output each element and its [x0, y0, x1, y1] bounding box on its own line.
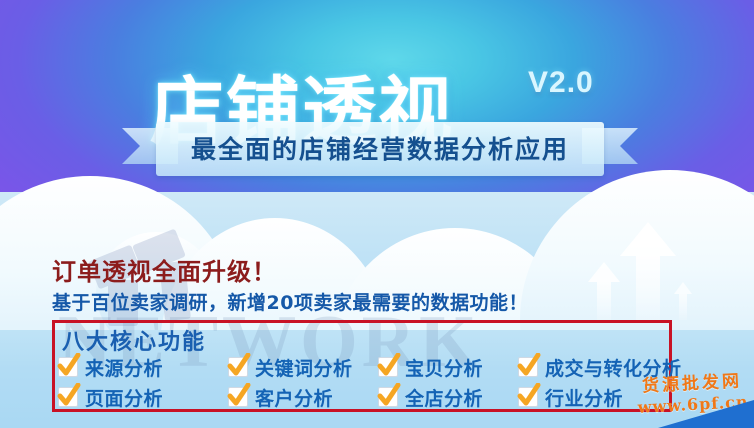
tagline-text: 最全面的店铺经营数据分析应用: [156, 130, 604, 166]
feature-item: 页面分析: [58, 382, 228, 412]
feature-item-label: 全店分析: [405, 384, 483, 411]
tagline-ribbon: 最全面的店铺经营数据分析应用: [122, 122, 638, 184]
corner-accent-triangle: [658, 400, 754, 428]
feature-item-label: 来源分析: [85, 354, 163, 381]
version-badge: V2.0: [528, 66, 594, 100]
feature-item-label: 行业分析: [545, 384, 623, 411]
feature-item: 宝贝分析: [378, 352, 518, 382]
check-icon: [228, 357, 248, 377]
feature-item: 客户分析: [228, 382, 378, 412]
features-grid: 来源分析关键词分析宝贝分析成交与转化分析页面分析客户分析全店分析行业分析: [58, 352, 668, 412]
ribbon-body: 最全面的店铺经营数据分析应用: [156, 122, 604, 176]
check-icon: [228, 387, 248, 407]
promo-subline: 基于百位卖家调研，新增20项卖家最需要的数据功能！: [52, 288, 528, 315]
feature-item-label: 关键词分析: [255, 354, 353, 381]
check-icon: [378, 357, 398, 377]
feature-item: 来源分析: [58, 352, 228, 382]
feature-item-label: 页面分析: [85, 384, 163, 411]
check-icon: [58, 387, 78, 407]
promotional-banner: NETWORK 店铺透视 V2.0 最全面的店铺经营数据分析应用 订单透视全面升…: [0, 0, 754, 428]
check-icon: [378, 387, 398, 407]
check-icon: [518, 357, 538, 377]
check-icon: [518, 387, 538, 407]
feature-item-label: 宝贝分析: [405, 354, 483, 381]
feature-item: 关键词分析: [228, 352, 378, 382]
feature-item-label: 客户分析: [255, 384, 333, 411]
up-arrow-icon-medium: [588, 262, 620, 322]
promo-headline: 订单透视全面升级！: [52, 252, 277, 287]
check-icon: [58, 357, 78, 377]
feature-item: 全店分析: [378, 382, 518, 412]
up-arrow-icon-small: [674, 282, 692, 320]
up-arrow-icon-large: [620, 222, 676, 322]
